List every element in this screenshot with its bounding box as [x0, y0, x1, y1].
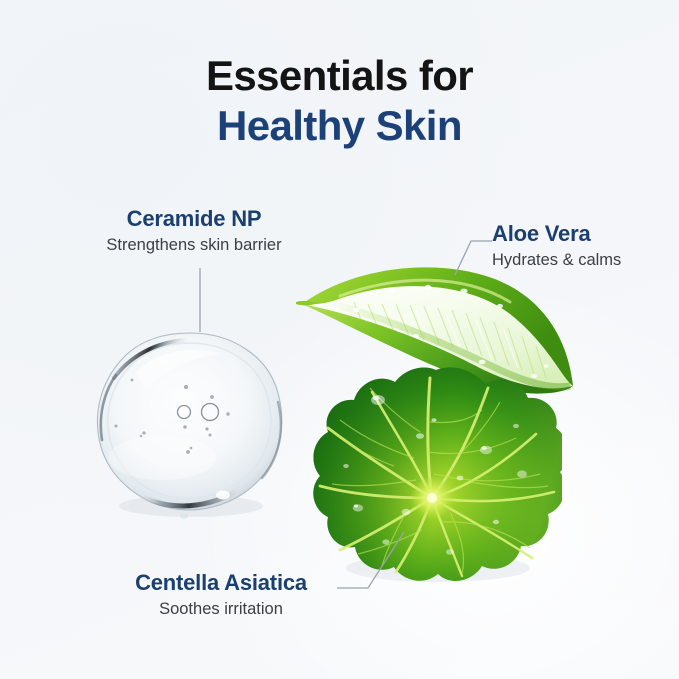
- ingredient-description: Strengthens skin barrier: [0, 236, 388, 255]
- title-line-accent: Healthy Skin: [0, 102, 679, 149]
- title-line-primary: Essentials for: [0, 52, 679, 99]
- ingredient-description: Hydrates & calms: [492, 251, 621, 270]
- infographic-canvas: Essentials for Healthy Skin: [0, 0, 679, 679]
- ingredient-name: Ceramide NP: [0, 206, 388, 232]
- serum-droplet-illustration: [92, 330, 288, 520]
- centella-leaf-illustration: [310, 362, 562, 590]
- ingredient-description: Soothes irritation: [0, 600, 442, 619]
- ingredient-name: Aloe Vera: [492, 221, 621, 247]
- page-title: Essentials for Healthy Skin: [0, 52, 679, 149]
- ingredient-label-centella-asiatica: Centella Asiatica Soothes irritation: [0, 570, 442, 619]
- ingredient-label-ceramide-np: Ceramide NP Strengthens skin barrier: [0, 206, 388, 255]
- ingredient-name: Centella Asiatica: [0, 570, 442, 596]
- ingredient-label-aloe-vera: Aloe Vera Hydrates & calms: [492, 221, 621, 270]
